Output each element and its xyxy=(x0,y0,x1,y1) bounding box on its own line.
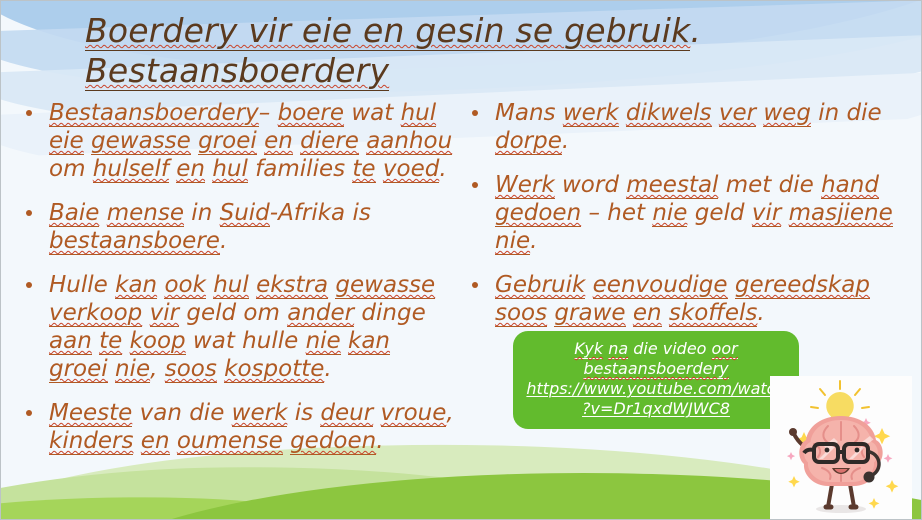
bullet-wie-doen-werk: Meeste van die werk is deur vroue, kinde… xyxy=(15,399,455,455)
bullet-baie-mense: Baie mense in Suid-Afrika is bestaansboe… xyxy=(15,199,455,255)
bullet-handewerk: Werk word meestal met die hand gedoen – … xyxy=(461,171,911,255)
callout-video-link-line-2[interactable]: ?v=Dr1qxdWJWC8 xyxy=(523,399,789,419)
video-callout[interactable]: Kyk na die video oor bestaansboerdery ht… xyxy=(513,331,799,429)
bullet-mans-werk: Mans werk dikwels ver weg in die dorpe. xyxy=(461,99,911,155)
video-url-part-1[interactable]: https://www.youtube.com/watch xyxy=(526,379,785,398)
right-eye xyxy=(855,448,860,453)
left-eye xyxy=(825,448,830,453)
brain-character-illustration xyxy=(770,376,912,520)
left-text-column: Bestaansboerdery– boere wat hul eie gewa… xyxy=(15,99,455,471)
bullet-ekstra-gewasse: Hulle kan ook hul ekstra gewasse verkoop… xyxy=(15,271,455,383)
slide-title: Boerdery vir eie en gesin se gebruik. Be… xyxy=(85,11,845,91)
presentation-slide: Boerdery vir eie en gesin se gebruik. Be… xyxy=(0,0,922,520)
callout-line-2: bestaansboerdery xyxy=(523,359,789,379)
brain-character-image xyxy=(770,376,912,520)
video-url-part-2[interactable]: ?v=Dr1qxdWJWC8 xyxy=(582,399,730,418)
callout-line-1: Kyk na die video oor xyxy=(523,339,789,359)
right-text-column: Mans werk dikwels ver weg in die dorpe. … xyxy=(461,99,911,343)
bullet-gereedskap: Gebruik eenvoudige gereedskap soos grawe… xyxy=(461,271,911,327)
bullet-bestaansboerdery-definisie: Bestaansboerdery– boere wat hul eie gewa… xyxy=(15,99,455,183)
callout-video-link-line-1[interactable]: https://www.youtube.com/watch xyxy=(523,379,789,399)
slide-title-line-2: Bestaansboerdery xyxy=(85,51,845,91)
slide-title-line-1: Boerdery vir eie en gesin se gebruik. xyxy=(85,11,845,51)
